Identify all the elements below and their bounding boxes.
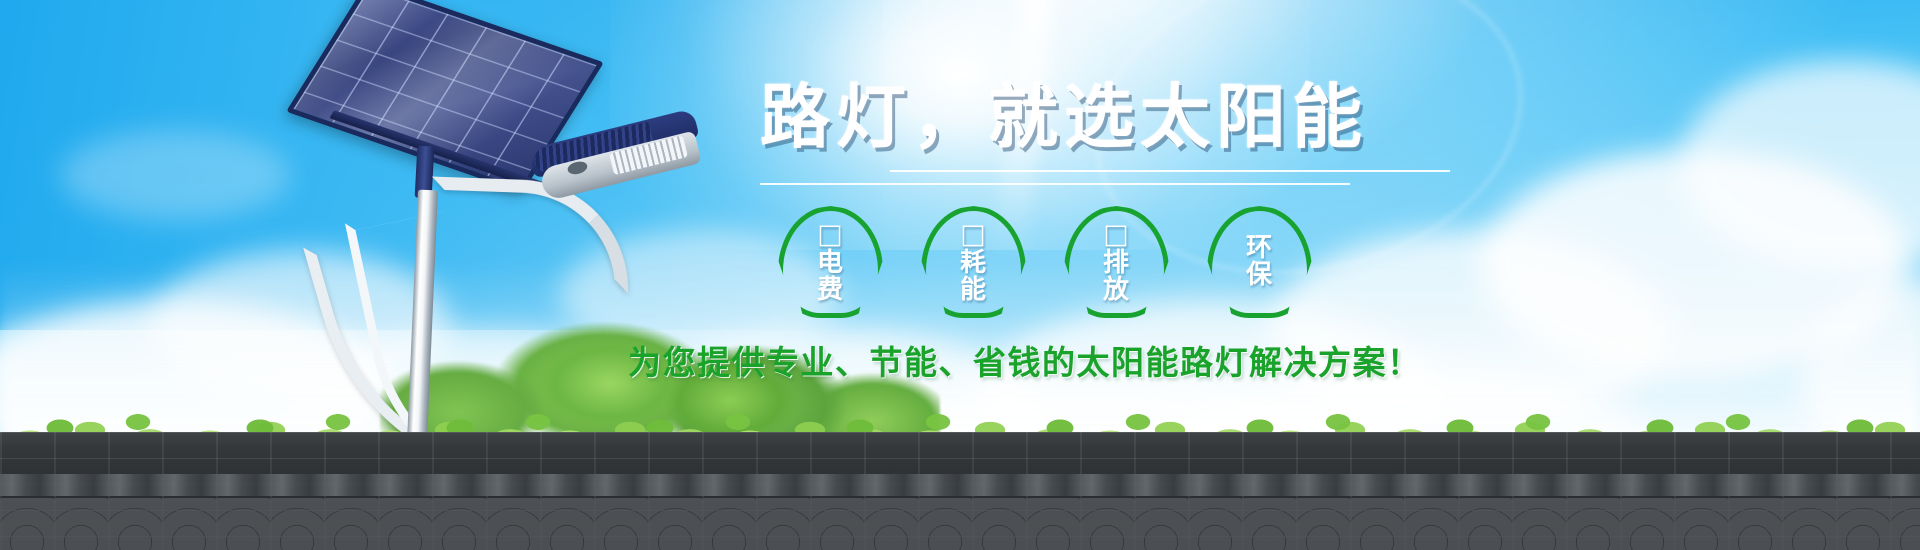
wall-roof-tile-ends [0, 498, 1920, 550]
badge-char-2: 保 [1246, 262, 1273, 289]
badge-char-2: 费 [817, 277, 844, 304]
badge-zero-glyph: □ [960, 221, 987, 248]
feature-badge-list: □ 电 费 □ 耗 能 □ 排 放 [760, 206, 1480, 318]
feature-badge-text: □ 电 费 [817, 221, 844, 303]
badge-char-2: 能 [960, 277, 987, 304]
divider-line-bottom [760, 183, 1350, 185]
feature-badge: □ 电 费 [778, 206, 883, 318]
cloud-wisp [60, 130, 290, 220]
banner-subtitle: 为您提供专业、节能、省钱的太阳能路灯解决方案！ [628, 336, 1480, 384]
tiled-wall [0, 432, 1920, 550]
headline-divider [760, 166, 1480, 192]
banner-text-content: 路灯，就选太阳能 □ 电 费 □ 耗 能 [760, 82, 1480, 384]
badge-char-2: 放 [1103, 277, 1130, 304]
badge-char-1: 环 [1246, 235, 1273, 262]
feature-badge-text: 环 保 [1246, 235, 1273, 288]
feature-badge: □ 耗 能 [921, 206, 1026, 318]
feature-badge: □ 排 放 [1064, 206, 1169, 318]
badge-char-1: 电 [817, 250, 844, 277]
solar-street-light-hero-banner: 路灯，就选太阳能 □ 电 费 □ 耗 能 [0, 0, 1920, 550]
badge-char-1: 排 [1103, 250, 1130, 277]
divider-line-top [890, 170, 1450, 172]
feature-badge: 环 保 [1207, 206, 1312, 318]
lamp-arm [428, 177, 632, 294]
feature-badge-text: □ 排 放 [1103, 221, 1130, 303]
wall-cap-tiles [0, 474, 1920, 496]
badge-char-1: 耗 [960, 250, 987, 277]
badge-zero-glyph: □ [1103, 221, 1130, 248]
feature-badge-text: □ 耗 能 [960, 221, 987, 303]
banner-headline: 路灯，就选太阳能 [760, 82, 1480, 152]
badge-zero-glyph: □ [817, 221, 844, 248]
